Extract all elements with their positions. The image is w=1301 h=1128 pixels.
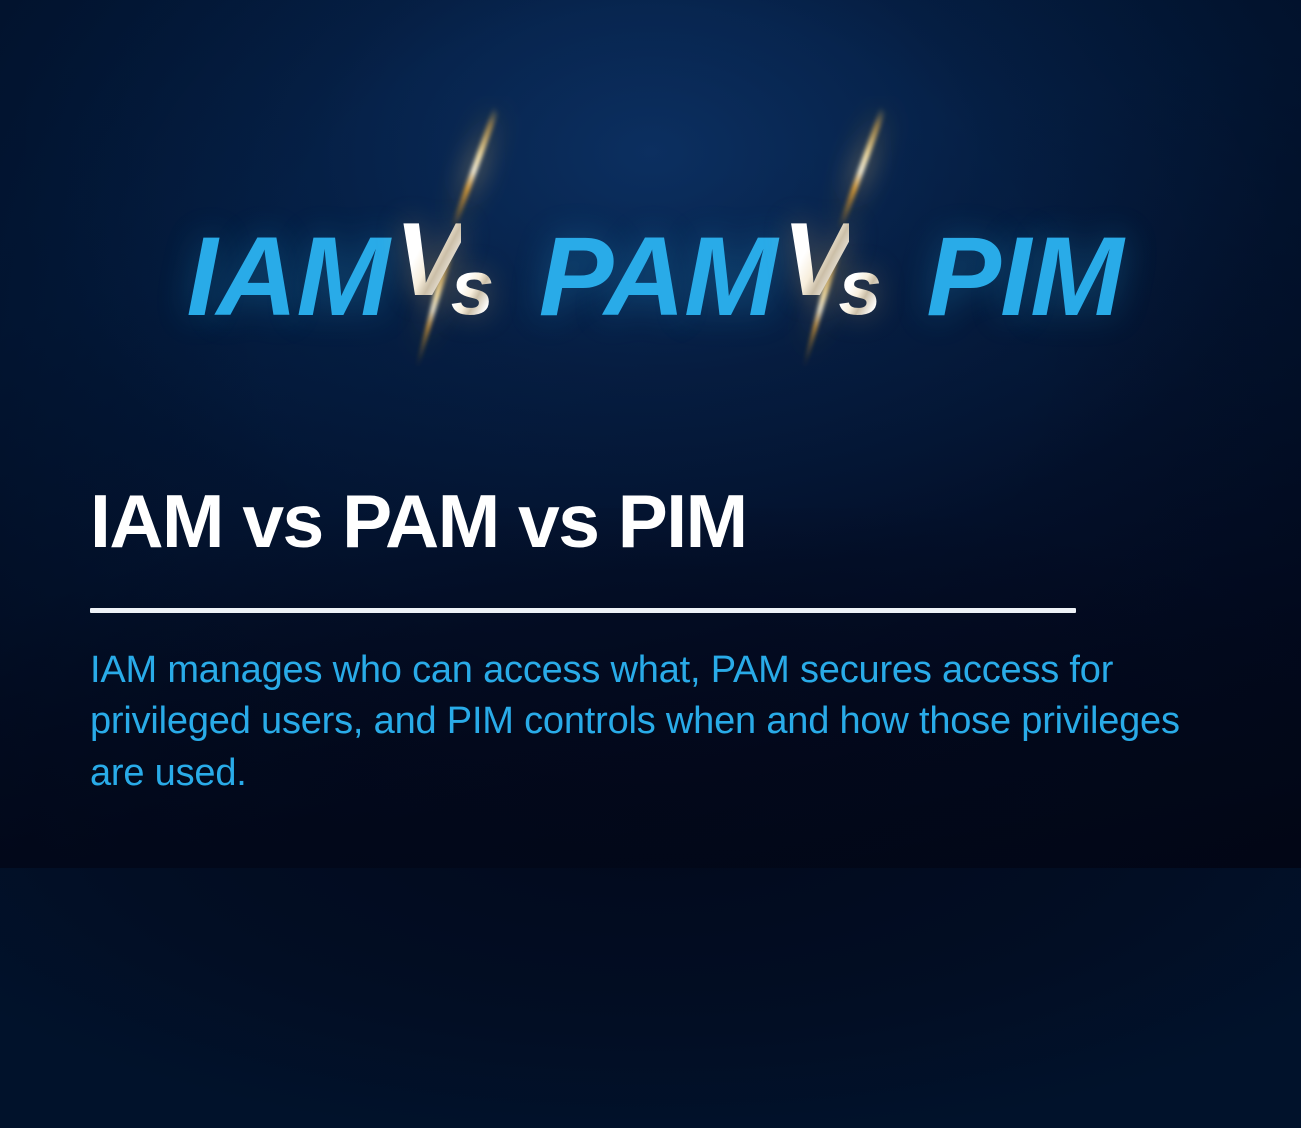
vs-separator-2: V s (776, 96, 926, 386)
page-title: IAM vs PAM vs PIM (90, 482, 1240, 560)
vs-letters-1: V s (389, 96, 539, 386)
hero-word-pim: PIM (926, 221, 1122, 333)
vs-letter-s: s (838, 248, 881, 326)
divider-rule (90, 608, 1076, 613)
content-block: IAM vs PAM vs PIM IAM manages who can ac… (90, 482, 1240, 799)
vs-letters-2: V s (776, 96, 926, 386)
vs-separator-1: V s (389, 96, 539, 386)
vs-letter-s: s (451, 248, 494, 326)
hero-word-iam: IAM (187, 221, 389, 333)
hero-word-pam: PAM (539, 221, 777, 333)
lede-paragraph: IAM manages who can access what, PAM sec… (90, 645, 1215, 799)
hero-lockup: IAM (0, 96, 1301, 386)
